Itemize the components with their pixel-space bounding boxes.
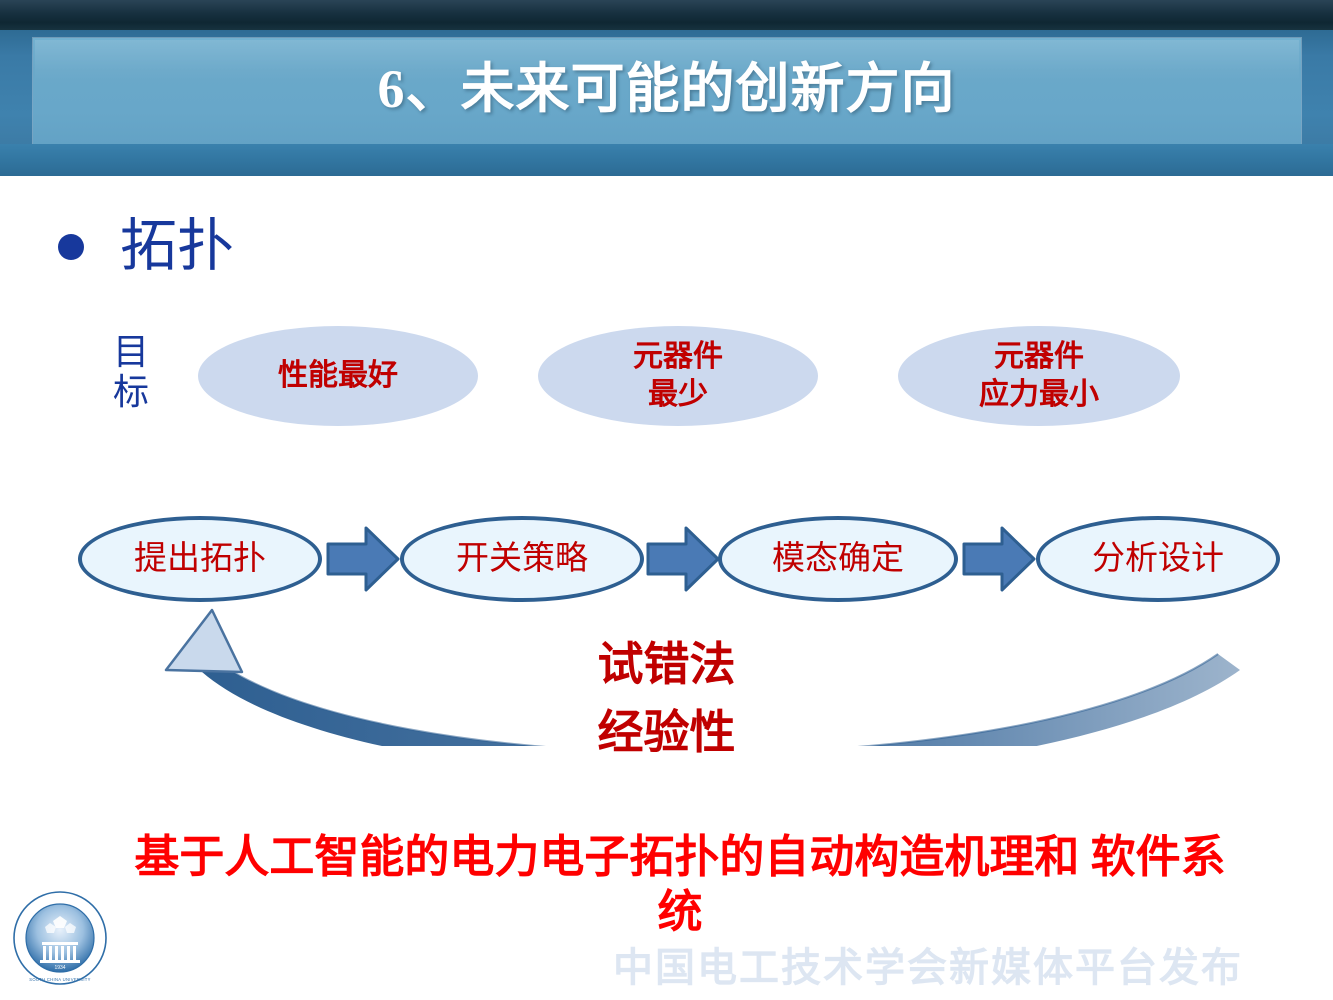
seal-year: 1934 [54, 965, 65, 971]
goal-label-1: 性能最好 [278, 357, 398, 395]
flow-arrow-3 [962, 524, 1036, 594]
conclusion-statement: 基于人工智能的电力电子拓扑的自动构造机理和 软件系统 [120, 830, 1240, 940]
flow-arrow-1 [326, 524, 400, 594]
flow-step-label-3: 模态确定 [772, 540, 904, 578]
university-seal-icon: 1934 SOUTH CHINA UNIVERSITY [12, 890, 108, 986]
right-arrow-icon [326, 524, 400, 594]
page-title: 6、未来可能的创新方向 [0, 53, 1333, 125]
feedback-label-empirical: 经验性 [0, 706, 1333, 760]
flow-step-switching-strategy: 开关策略 [400, 516, 644, 602]
flow-step-label-4: 分析设计 [1092, 540, 1224, 578]
flow-step-label-1: 提出拓扑 [134, 540, 266, 578]
goal-ellipse-fewest-components: 元器件最少 [538, 326, 818, 426]
flow-step-propose-topology: 提出拓扑 [78, 516, 322, 602]
page-title-text: 未来可能的创新方向 [461, 59, 956, 119]
bullet-dot-icon [58, 234, 84, 260]
goal-label-3-line2: 应力最小 [979, 378, 1099, 411]
conclusion-line-1: 基于人工智能的电力电子拓扑的自动构造机理和 [134, 832, 1079, 882]
goals-row-label: 目标 [108, 332, 154, 412]
goal-label-3: 元器件应力最小 [979, 338, 1099, 414]
section-heading-label: 拓扑 [120, 216, 234, 278]
page-title-number: 6、 [378, 59, 461, 119]
header-bottom-band [0, 144, 1333, 176]
goal-label-2: 元器件最少 [633, 338, 723, 414]
right-arrow-icon [646, 524, 720, 594]
feedback-label-trial-and-error: 试错法 [0, 638, 1333, 692]
flow-arrow-2 [646, 524, 720, 594]
section-heading: 拓扑 [58, 216, 234, 278]
flow-step-label-2: 开关策略 [456, 540, 588, 578]
header-dark-strip [0, 0, 1333, 30]
goals-row-label-text: 目标 [113, 332, 149, 412]
goal-label-2-line1: 元器件 [633, 340, 723, 373]
flow-step-analysis-design: 分析设计 [1036, 516, 1280, 602]
right-arrow-icon [962, 524, 1036, 594]
flow-step-mode-determination: 模态确定 [718, 516, 958, 602]
goal-label-2-line2: 最少 [648, 378, 708, 411]
goal-label-3-line1: 元器件 [994, 340, 1084, 373]
seal-ring-text: SOUTH CHINA UNIVERSITY [29, 977, 91, 982]
scut-university-seal-logo: 1934 SOUTH CHINA UNIVERSITY [12, 890, 108, 986]
platform-watermark: 中国电工技术学会新媒体平台发布 [613, 942, 1253, 994]
goal-ellipse-lowest-stress: 元器件应力最小 [898, 326, 1180, 426]
goal-ellipse-performance: 性能最好 [198, 326, 478, 426]
